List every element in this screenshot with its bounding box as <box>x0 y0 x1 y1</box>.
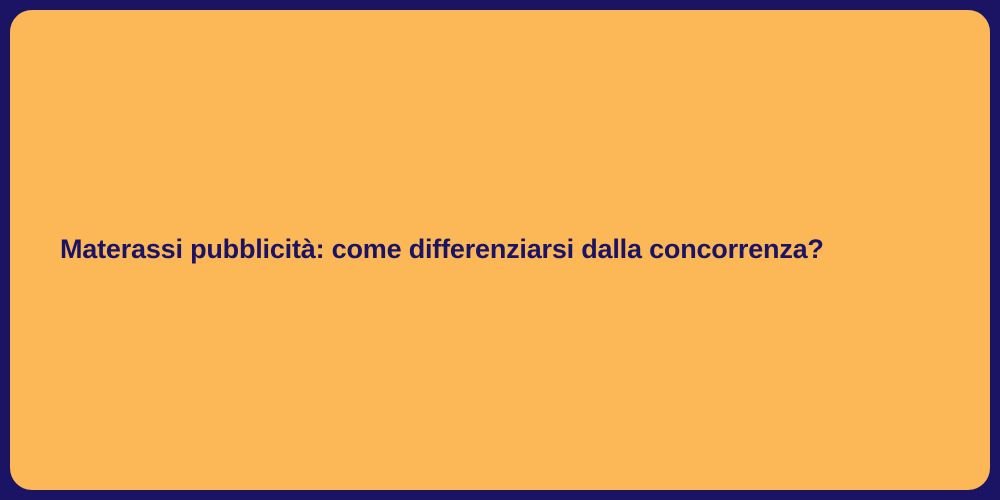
page-title: Materassi pubblicità: come differenziars… <box>10 232 874 267</box>
banner-outer-frame: Materassi pubblicità: come differenziars… <box>0 0 1000 500</box>
banner-card: Materassi pubblicità: come differenziars… <box>10 10 990 490</box>
